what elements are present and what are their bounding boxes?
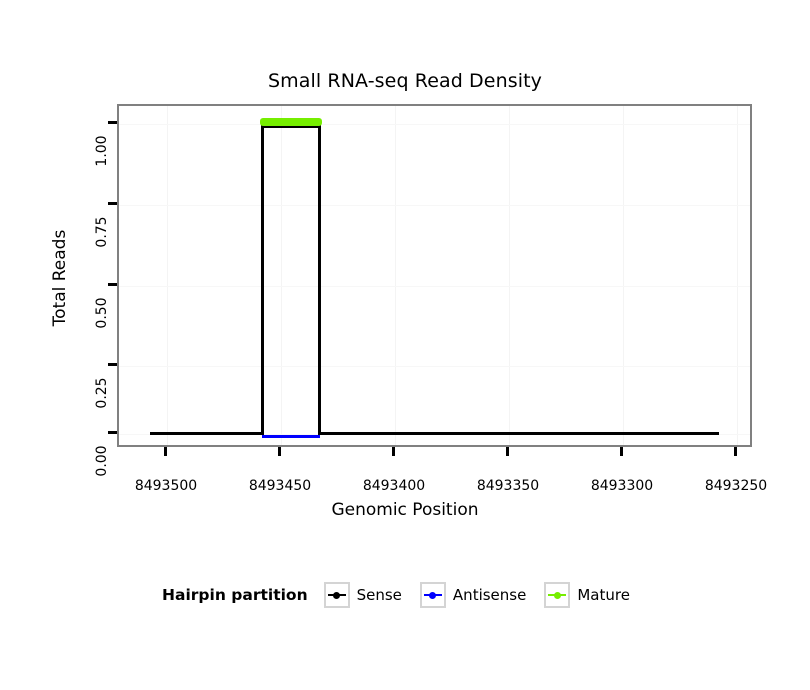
y-tick-label: 0.75 xyxy=(94,204,110,260)
chart-figure: Small RNA-seq Read Density xyxy=(0,0,810,690)
x-tick-label: 8493350 xyxy=(477,478,539,494)
y-tick-label: 0.25 xyxy=(94,365,110,421)
x-tick-label: 8493250 xyxy=(705,478,767,494)
data-layer xyxy=(119,106,750,445)
legend-key-sense xyxy=(324,582,350,608)
x-tick-label: 8493300 xyxy=(591,478,653,494)
legend-title: Hairpin partition xyxy=(162,586,308,604)
legend-entry-antisense[interactable]: Antisense xyxy=(420,582,538,608)
y-tick-label: 0.00 xyxy=(94,433,110,489)
legend-label-sense: Sense xyxy=(357,586,402,604)
x-tick xyxy=(506,447,509,456)
x-tick-label: 8493500 xyxy=(135,478,197,494)
x-axis-label: Genomic Position xyxy=(0,500,810,520)
chart-title: Small RNA-seq Read Density xyxy=(0,70,810,92)
sense-rising-edge xyxy=(261,125,264,435)
legend-dot-icon xyxy=(429,592,436,599)
legend-key-antisense xyxy=(420,582,446,608)
plot-panel xyxy=(117,104,752,447)
x-tick xyxy=(734,447,737,456)
legend-entry-mature[interactable]: Mature xyxy=(544,582,642,608)
sense-baseline-right xyxy=(318,432,719,435)
x-tick xyxy=(278,447,281,456)
x-tick xyxy=(164,447,167,456)
x-tick-label: 8493450 xyxy=(249,478,311,494)
legend-label-antisense: Antisense xyxy=(453,586,526,604)
legend-entry-sense[interactable]: Sense xyxy=(324,582,414,608)
x-tick xyxy=(620,447,623,456)
legend-label-mature: Mature xyxy=(577,586,630,604)
antisense-baseline xyxy=(262,435,320,438)
x-tick xyxy=(392,447,395,456)
x-tick-label: 8493400 xyxy=(363,478,425,494)
sense-falling-edge xyxy=(318,125,321,435)
mature-span xyxy=(260,118,322,126)
legend-key-mature xyxy=(544,582,570,608)
y-tick-label: 0.50 xyxy=(94,285,110,341)
y-axis-label: Total Reads xyxy=(50,218,70,338)
legend-dot-icon xyxy=(333,592,340,599)
legend: Hairpin partition Sense Antisense Mature xyxy=(0,582,810,608)
legend-dot-icon xyxy=(554,592,561,599)
y-tick-label: 1.00 xyxy=(94,123,110,179)
sense-baseline-left xyxy=(150,432,262,435)
